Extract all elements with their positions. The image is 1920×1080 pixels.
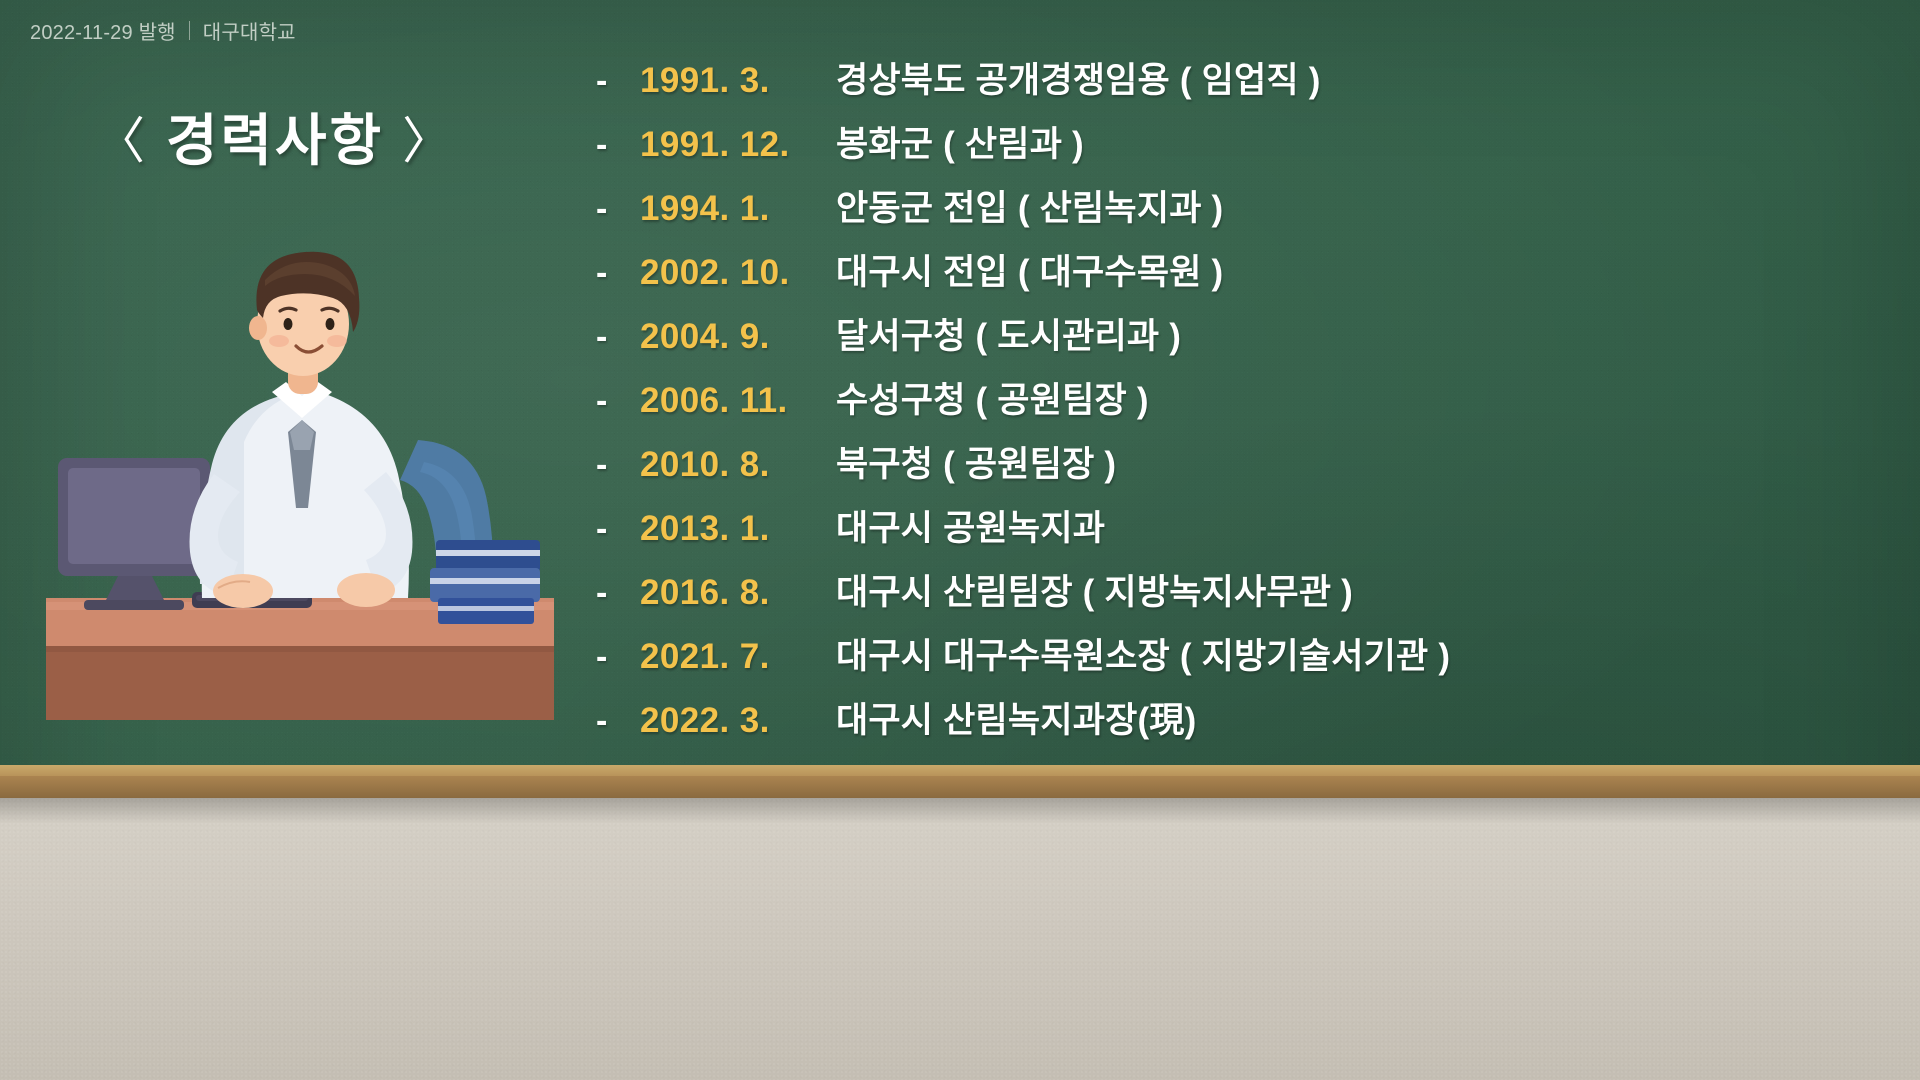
header-divider: [189, 21, 190, 40]
career-date: 1994. 1.: [640, 189, 822, 229]
wall-below-board: [0, 798, 1920, 1080]
career-item: -1991. 12.봉화군 ( 산림과 ): [596, 116, 1450, 180]
career-bullet-icon: -: [596, 192, 640, 226]
career-date: 2004. 9.: [640, 317, 822, 357]
career-description: 대구시 산림팀장 ( 지방녹지사무관 ): [836, 564, 1353, 615]
career-bullet-icon: -: [596, 448, 640, 482]
career-description: 대구시 공원녹지과: [836, 500, 1105, 551]
career-item: -2010. 8.북구청 ( 공원팀장 ): [596, 436, 1450, 500]
organization-name: 대구대학교: [203, 16, 296, 45]
book-stack-icon: [430, 540, 540, 624]
publish-date-text: 2022-11-29 발행: [30, 16, 176, 45]
career-item: -2021. 7.대구시 대구수목원소장 ( 지방기술서기관 ): [596, 628, 1450, 692]
career-item: -2016. 8.대구시 산림팀장 ( 지방녹지사무관 ): [596, 564, 1450, 628]
career-item: -2002. 10.대구시 전입 ( 대구수목원 ): [596, 244, 1450, 308]
career-item: -2006. 11.수성구청 ( 공원팀장 ): [596, 372, 1450, 436]
wall-shadow: [0, 798, 1920, 824]
career-bullet-icon: -: [596, 128, 640, 162]
career-bullet-icon: -: [596, 64, 640, 98]
career-description: 대구시 전입 ( 대구수목원 ): [836, 244, 1223, 295]
career-date: 2013. 1.: [640, 509, 822, 549]
career-date: 2010. 8.: [640, 445, 822, 485]
career-description: 안동군 전입 ( 산림녹지과 ): [836, 180, 1223, 231]
bracket-right-icon: 〉: [402, 101, 455, 173]
bracket-left-icon: 〈: [95, 101, 148, 173]
page-title: 〈 경력사항 〉: [95, 96, 455, 177]
page-title-text: 경력사항: [166, 96, 384, 177]
career-description: 대구시 대구수목원소장 ( 지방기술서기관 ): [836, 628, 1450, 679]
career-bullet-icon: -: [596, 256, 640, 290]
career-bullet-icon: -: [596, 576, 640, 610]
career-item: -1994. 1.안동군 전입 ( 산림녹지과 ): [596, 180, 1450, 244]
career-date: 2022. 3.: [640, 701, 822, 741]
career-bullet-icon: -: [596, 704, 640, 738]
career-bullet-icon: -: [596, 320, 640, 354]
career-item: -1991. 3.경상북도 공개경쟁임용 ( 임업직 ): [596, 52, 1450, 116]
chalk-ledge-wood: [0, 776, 1920, 798]
career-date: 2016. 8.: [640, 573, 822, 613]
career-bullet-icon: -: [596, 640, 640, 674]
career-description: 봉화군 ( 산림과 ): [836, 116, 1084, 167]
career-bullet-icon: -: [596, 512, 640, 546]
career-date: 1991. 12.: [640, 125, 822, 165]
career-description: 북구청 ( 공원팀장 ): [836, 436, 1116, 487]
office-worker-figure: [190, 252, 413, 608]
slide-header: 2022-11-29 발행 대구대학교: [30, 16, 296, 45]
career-date: 2006. 11.: [640, 381, 822, 421]
career-date: 1991. 3.: [640, 61, 822, 101]
career-date: 2021. 7.: [640, 637, 822, 677]
career-description: 경상북도 공개경쟁임용 ( 임업직 ): [836, 52, 1321, 103]
chalk-ledge-top: [0, 765, 1920, 776]
slide-canvas: 2022-11-29 발행 대구대학교 〈 경력사항 〉: [0, 0, 1920, 1080]
career-description: 대구시 산림녹지과장(現): [836, 692, 1196, 743]
desktop-monitor-icon: [58, 458, 210, 610]
career-date: 2002. 10.: [640, 253, 822, 293]
career-description: 달서구청 ( 도시관리과 ): [836, 308, 1181, 359]
career-item: -2022. 3.대구시 산림녹지과장(現): [596, 692, 1450, 756]
illustration-man-at-desk: [0, 210, 600, 770]
career-item: -2004. 9.달서구청 ( 도시관리과 ): [596, 308, 1450, 372]
career-description: 수성구청 ( 공원팀장 ): [836, 372, 1149, 423]
career-bullet-icon: -: [596, 384, 640, 418]
career-item: -2013. 1.대구시 공원녹지과: [596, 500, 1450, 564]
career-list: -1991. 3.경상북도 공개경쟁임용 ( 임업직 )-1991. 12.봉화…: [596, 52, 1450, 756]
